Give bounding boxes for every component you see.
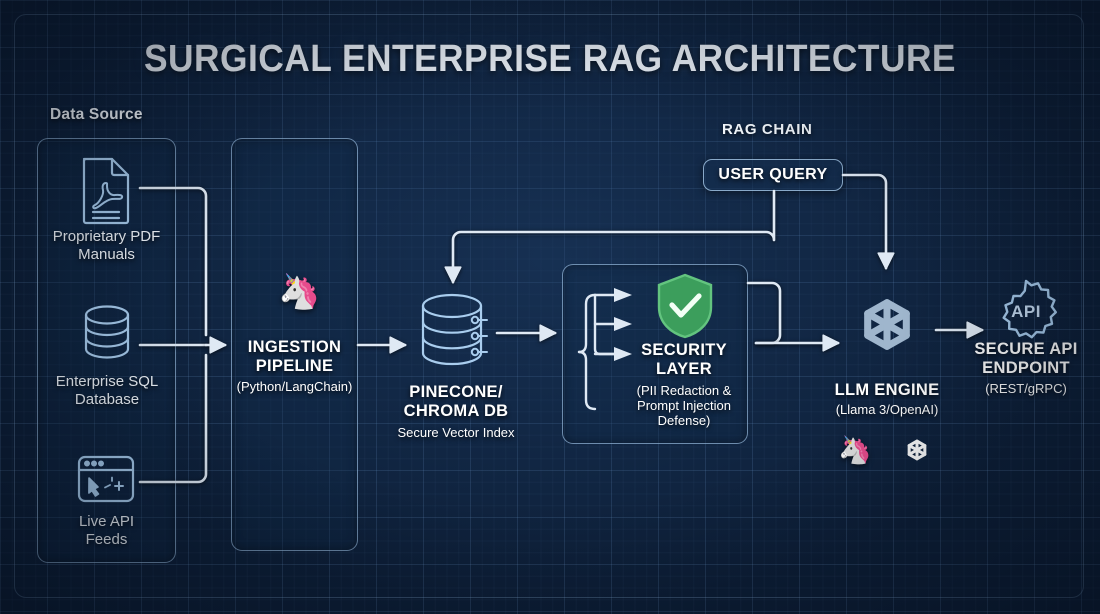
- data-source-pdf[interactable]: [76, 155, 138, 225]
- vector-db-node[interactable]: [416, 293, 494, 373]
- data-source-sql[interactable]: [80, 303, 134, 361]
- browser-window-icon: [76, 454, 136, 504]
- api-endpoint-node[interactable]: API: [993, 278, 1059, 344]
- parrot-emoji-badge: 🦄: [838, 437, 872, 464]
- pdf-document-icon: [76, 155, 138, 225]
- security-layer-caption: SECURITY LAYER (PII Redaction & Prompt I…: [620, 341, 748, 428]
- api-badge-icon: API: [993, 278, 1059, 344]
- vector-db-caption: PINECONE/ CHROMA DB Secure Vector Index: [372, 383, 540, 440]
- database-icon: [80, 303, 134, 361]
- openai-logo-badge[interactable]: [900, 434, 934, 468]
- diagram-canvas: SURGICAL ENTERPRISE RAG ARCHITECTURE Dat…: [0, 0, 1100, 614]
- ingestion-pipeline-caption: INGESTION PIPELINE (Python/LangChain): [228, 338, 361, 394]
- data-source-api[interactable]: [76, 454, 136, 504]
- openai-logo-icon: [845, 285, 929, 369]
- group-label-data-source: Data Source: [50, 106, 143, 124]
- page-title: SURGICAL ENTERPRISE RAG ARCHITECTURE: [39, 38, 1062, 81]
- shield-check-icon: [654, 272, 716, 340]
- llm-engine-node[interactable]: [845, 285, 929, 369]
- database-cylinder-icon: [416, 293, 494, 373]
- wire-userquery-to-llm: [843, 175, 886, 268]
- svg-text:API: API: [1011, 302, 1041, 321]
- data-source-sql-label: Enterprise SQL Database: [27, 373, 187, 409]
- security-shield: [654, 272, 716, 340]
- data-source-api-label: Live API Feeds: [37, 513, 176, 549]
- llm-engine-caption: LLM ENGINE (Llama 3/OpenAI): [806, 381, 968, 418]
- group-label-rag-chain: RAG CHAIN: [722, 121, 812, 138]
- parrot-emoji: 🦄: [278, 275, 320, 309]
- user-query-box[interactable]: USER QUERY: [703, 159, 843, 191]
- api-endpoint-caption: SECURE API ENDPOINT (REST/gRPC): [952, 340, 1100, 396]
- wire-security-out: [748, 283, 780, 343]
- data-source-pdf-label: Proprietary PDF Manuals: [29, 228, 184, 264]
